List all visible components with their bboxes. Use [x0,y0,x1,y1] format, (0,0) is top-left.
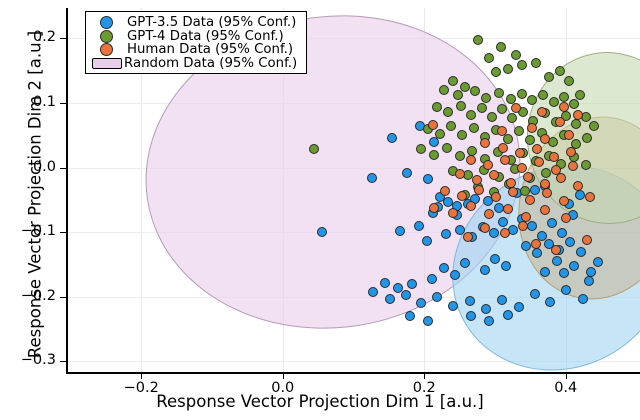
data-point [448,301,458,311]
data-point [450,270,460,280]
x-tick [283,374,284,379]
y-tick [60,361,66,362]
data-point [569,261,579,271]
data-point [427,274,437,284]
data-point [442,143,452,153]
x-tick-label: −0.2 [111,380,171,396]
data-point [439,263,449,273]
legend-swatch-series-0 [100,16,113,29]
data-point [565,237,575,247]
data-point [490,254,500,264]
data-point [474,185,484,195]
data-point [460,258,470,268]
legend-label: Random Data (95% Conf.) [124,57,297,70]
legend-swatch-random [92,58,122,69]
data-point [465,296,475,306]
data-point [473,35,483,45]
y-axis-line [66,8,68,374]
data-point [448,208,458,218]
data-point [571,119,581,129]
data-point [517,60,527,70]
data-point [407,279,417,289]
data-point [395,226,405,236]
data-point [432,102,442,112]
data-point [497,295,507,305]
y-tick [60,297,66,298]
data-point [523,172,533,182]
x-tick-label: 0.0 [253,380,313,396]
data-point [501,261,511,271]
data-point [503,310,513,320]
data-point [540,267,550,277]
data-point [575,90,585,100]
x-axis-line [66,372,640,374]
legend-item: GPT-3.5 Data (95% Conf.) [92,16,300,29]
data-point [494,88,504,98]
data-point [537,107,547,117]
data-point [561,285,571,295]
data-point [503,204,513,214]
data-point [568,161,578,171]
data-point [527,123,537,133]
y-tick [60,38,66,39]
data-point [541,168,551,178]
y-tick [60,168,66,169]
y-tick-label: −0.2 [4,288,56,304]
data-point [531,239,541,249]
data-point [521,241,531,251]
data-point [489,170,499,180]
data-point [582,235,592,245]
data-point [422,236,432,246]
data-point [423,316,433,326]
legend-swatch-series-2 [100,43,113,56]
data-point [480,265,490,275]
data-point [456,101,466,111]
y-tick-label: 0.0 [4,159,56,175]
data-point [585,192,595,202]
data-point [455,151,465,161]
data-point [517,163,527,173]
data-point [530,289,540,299]
data-point [466,155,476,165]
x-tick-label: 0.2 [394,380,454,396]
data-point [429,203,439,213]
data-point [483,160,493,170]
data-point [428,120,438,130]
data-point [367,173,377,183]
y-tick-label: −0.3 [4,352,56,368]
data-point [484,53,494,63]
data-point [582,133,592,143]
chart-legend: GPT-3.5 Data (95% Conf.)GPT-4 Data (95% … [85,11,307,74]
data-point [491,67,501,77]
y-tick-label: −0.1 [4,223,56,239]
x-tick [566,374,567,379]
data-point [578,294,588,304]
legend-item: Random Data (95% Conf.) [92,57,300,70]
data-point [466,311,476,321]
data-point [317,227,327,237]
data-point [586,267,596,277]
data-point [581,160,591,170]
x-tick [424,374,425,379]
data-point [514,126,524,136]
legend-item: Human Data (95% Conf.) [92,43,300,56]
data-point [540,134,550,144]
data-point [466,110,476,120]
data-point [559,92,569,102]
x-tick-label: 0.4 [536,380,596,396]
legend-label: Human Data (95% Conf.) [127,43,293,56]
y-tick-label: 0.1 [4,94,56,110]
data-point [507,113,517,123]
data-point [575,190,585,200]
data-point [530,185,540,195]
data-point [455,169,465,179]
y-tick [60,103,66,104]
data-point [518,221,528,231]
x-tick [141,374,142,379]
data-point [416,298,426,308]
legend-swatch-series-1 [100,30,113,43]
y-axis-label: Response Vector Projection Dim 2 [a.u.] [26,25,45,365]
data-point [368,287,378,297]
y-tick [60,232,66,233]
data-point [496,42,506,52]
data-point [500,155,510,165]
data-point [435,129,445,139]
data-point [576,247,586,257]
legend-label: GPT-3.5 Data (95% Conf.) [127,16,296,29]
data-point [540,205,550,215]
data-point [503,64,513,74]
data-point [531,58,541,68]
data-point [564,76,574,86]
data-point [557,228,567,238]
legend-label: GPT-4 Data (95% Conf.) [127,30,284,43]
data-point [544,72,554,82]
data-point [405,311,415,321]
data-point [432,292,442,302]
data-point [414,221,424,231]
data-point [380,278,390,288]
data-point [429,150,439,160]
data-point [564,130,574,140]
y-tick-label: 0.2 [4,29,56,45]
scatter-plot-figure: Response Vector Projection Dim 2 [a.u.] … [0,0,640,420]
data-point [555,66,565,76]
data-point [511,50,521,60]
data-point [469,123,479,133]
data-point [517,89,527,99]
data-point [561,213,571,223]
legend-item: GPT-4 Data (95% Conf.) [92,30,300,43]
